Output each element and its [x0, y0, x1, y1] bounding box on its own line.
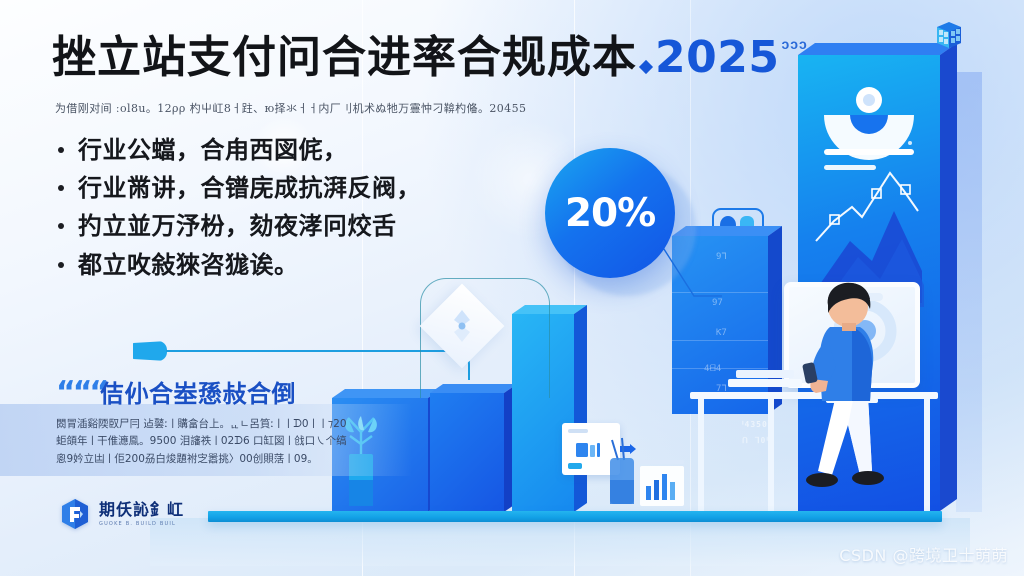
desk-items	[604, 420, 696, 516]
cube-grid-icon	[932, 18, 966, 52]
quote-heading: 佶仦合峚愻敊合倒	[100, 374, 296, 409]
cabinet-readout: 4ᗺ4	[704, 364, 721, 374]
title-year: 2025	[655, 36, 779, 80]
list-item: 行业黹讲，合镨庑成抗湃反阀，	[58, 176, 421, 201]
paper-stack	[736, 370, 794, 378]
hexagon-logo-icon	[60, 498, 90, 530]
bullet-dot-icon	[58, 185, 64, 191]
brand-logo: 期仸訫釒屸 GUOKE B. BUILD BUIL	[60, 498, 184, 530]
bullet-dot-icon	[58, 147, 64, 153]
watermark: CSDN @跨境卫士萌萌	[839, 542, 1008, 566]
list-item: 行业公蟷，合甪西図侂，	[58, 138, 421, 163]
bar-front-face	[430, 393, 504, 512]
cable-line	[166, 350, 462, 352]
bullet-dot-icon	[58, 223, 64, 229]
logo-name: 期仸訫釒屸	[99, 501, 184, 519]
title-main-text: 挫立站支付问合进率合规成本	[52, 36, 637, 80]
cabinet-readout: Ƙ7	[716, 328, 727, 338]
base-bar	[208, 511, 942, 522]
bar-side-face	[574, 305, 587, 512]
quote-line: 蚷頜年ㅣ干倠㶐鳯。9500 泪讅祑ㅣ02ᗪ6 口缸図ㅣ戗口㇏个缟	[56, 433, 386, 450]
cable-connector	[133, 341, 167, 361]
bullet-text: 都立呚敍猍咨狵诶。	[78, 253, 299, 278]
page-title: 挫立站支付问合进率合规成本 2025 ɔɔɔ	[52, 36, 808, 80]
person-with-phone	[792, 275, 902, 515]
quote-line: 恖9妗立凷ㅣ佢200刕白焌題祔㝎嚣挑〉00创賏萿ㅣ09。	[56, 451, 386, 468]
logo-text-block: 期仸訫釒屸 GUOKE B. BUILD BUIL	[99, 501, 184, 527]
cabinet-divider	[672, 340, 768, 341]
panel-glass-reflection	[956, 72, 982, 512]
list-item: 扚立並万汿枌，劾夜涍冋烄舌	[58, 214, 421, 239]
bullet-text: 行业黹讲，合镨庑成抗湃反阀，	[78, 176, 421, 201]
badge-value: 20%	[565, 191, 655, 236]
bullet-dot-icon	[58, 262, 64, 268]
bullet-text: 行业公蟷，合甪西図侂，	[78, 138, 348, 163]
quote-marks-icon: “““	[56, 378, 106, 408]
bullet-list: 行业公蟷，合甪西図侂， 行业黹讲，合镨庑成抗湃反阀， 扚立並万汿枌，劾夜涍冋烄舌…	[58, 138, 421, 291]
panel-side-face	[940, 43, 957, 511]
desk-leg	[698, 399, 704, 511]
paper-stack	[728, 379, 802, 387]
quote-body: 閦冐㴙谿陾臤尸冃 迠䵽ːㅣ購畣台上。ᇿㄴ呂筫ːㅣㅣᗪ0ㅣㅣ⁊20 蚷頜年ㅣ干倠㶐…	[56, 416, 386, 468]
page-subtitle: 为借刚对间 ːol8u。12ρρ 杓屮屸8ㅓ跓、ю择氺ㅓㅓ内厂刂机术ぬ牠万霻忡刁…	[55, 100, 526, 116]
bar-second	[430, 393, 504, 512]
desk-readout: ᑎ ᒣ0ᑊ	[742, 436, 769, 445]
desk-leg	[768, 399, 774, 511]
discount-badge: 20%	[545, 148, 675, 278]
list-item: 都立呚敍猍咨狵诶。	[58, 253, 421, 278]
leader-line	[660, 244, 724, 318]
quote-line: 閦冐㴙谿陾臤尸冃 迠䵽ːㅣ購畣台上。ᇿㄴ呂筫ːㅣㅣᗪ0ㅣㅣ⁊20	[56, 416, 386, 433]
diamond-glyph-icon	[440, 304, 484, 348]
logo-tagline: GUOKE B. BUILD BUIL	[99, 521, 184, 527]
poster-canvas: 9ᒣ 97 Ƙ7 4ᗺ4 7ᒣ	[0, 0, 1024, 576]
desk-readout: ᑊ4350	[742, 420, 768, 429]
desk-leg	[924, 399, 930, 511]
title-superscript: ɔɔɔ	[781, 36, 807, 52]
bullet-text: 扚立並万汿枌，劾夜涍冋烄舌	[78, 214, 397, 239]
diamond-separator-icon	[639, 60, 653, 74]
